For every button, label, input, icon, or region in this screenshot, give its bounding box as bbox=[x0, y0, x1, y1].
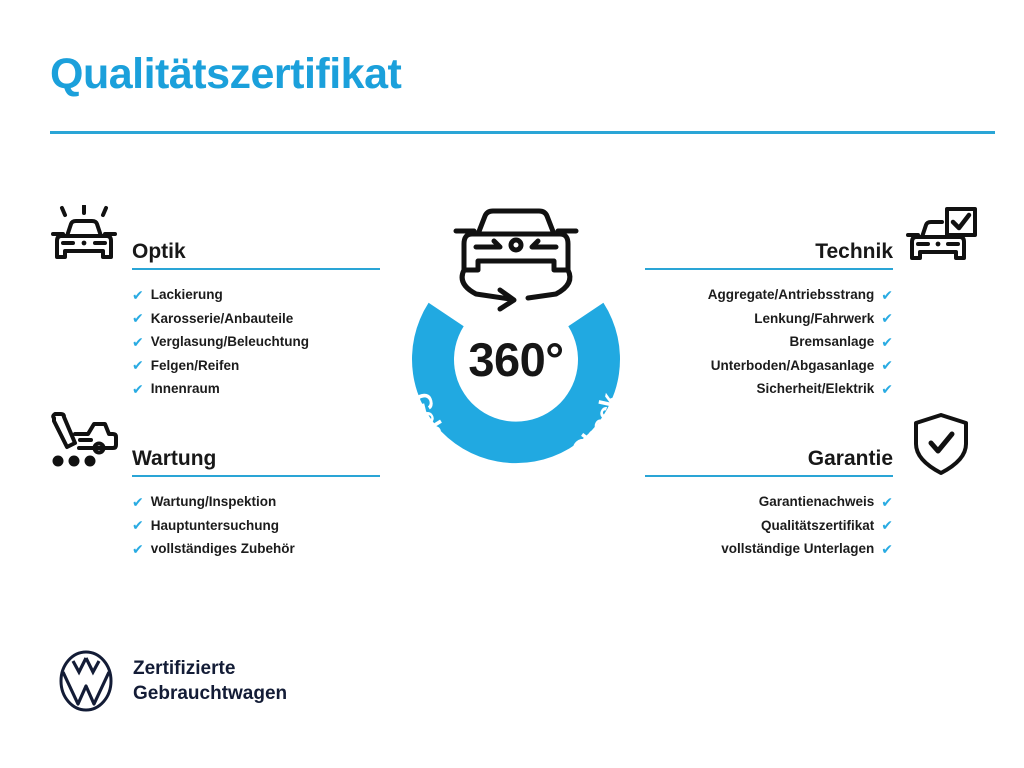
block-technik-header: Technik bbox=[645, 239, 893, 270]
list-item-label: vollständige Unterlagen bbox=[721, 537, 874, 561]
block-wartung-header: Wartung bbox=[132, 446, 380, 477]
car-rotate-icon bbox=[456, 211, 576, 309]
list-item: ✔vollständiges Zubehör bbox=[132, 537, 380, 561]
list-item-label: Lenkung/Fahrwerk bbox=[754, 307, 874, 331]
check-icon: ✔ bbox=[132, 518, 144, 532]
block-optik-list: ✔Lackierung ✔Karosserie/Anbauteile ✔Verg… bbox=[132, 283, 380, 401]
check-icon: ✔ bbox=[132, 542, 144, 556]
block-title: Wartung bbox=[132, 446, 380, 471]
vw-logo-icon bbox=[55, 650, 117, 712]
check-icon: ✔ bbox=[132, 288, 144, 302]
check-icon: ✔ bbox=[881, 518, 893, 532]
badge-center-label: 360° bbox=[376, 332, 656, 387]
certificate-page: Qualitätszertifikat Optik ✔Lackierung bbox=[0, 0, 1024, 768]
list-item: Qualitätszertifikat✔ bbox=[645, 514, 893, 538]
shield-check-icon bbox=[902, 412, 980, 478]
block-title: Garantie bbox=[645, 446, 893, 471]
vw-footer-logo: Zertifizierte Gebrauchtwagen bbox=[55, 650, 287, 712]
list-item-label: Unterboden/Abgasanlage bbox=[711, 354, 875, 378]
check-icon: ✔ bbox=[132, 358, 144, 372]
list-item-label: Verglasung/Beleuchtung bbox=[151, 330, 309, 354]
list-item-label: Sicherheit/Elektrik bbox=[756, 377, 874, 401]
title-divider bbox=[50, 131, 995, 134]
list-item-label: Bremsanlage bbox=[789, 330, 874, 354]
list-item: ✔Innenraum bbox=[132, 377, 380, 401]
block-garantie-header: Garantie bbox=[645, 446, 893, 477]
list-item: ✔Felgen/Reifen bbox=[132, 354, 380, 378]
block-wartung: Wartung ✔Wartung/Inspektion ✔Hauptunters… bbox=[45, 412, 395, 592]
block-title: Technik bbox=[645, 239, 893, 264]
list-item-label: Aggregate/Antriebsstrang bbox=[708, 283, 875, 307]
check-icon: ✔ bbox=[881, 495, 893, 509]
check-icon: ✔ bbox=[132, 495, 144, 509]
list-item: ✔Lackierung bbox=[132, 283, 380, 307]
block-optik-header: Optik bbox=[132, 239, 380, 270]
list-item: Garantienachweis✔ bbox=[645, 490, 893, 514]
list-item-label: Qualitätszertifikat bbox=[761, 514, 874, 538]
list-item-label: Karosserie/Anbauteile bbox=[151, 307, 294, 331]
list-item: ✔Karosserie/Anbauteile bbox=[132, 307, 380, 331]
list-item: ✔Wartung/Inspektion bbox=[132, 490, 380, 514]
list-item: Aggregate/Antriebsstrang✔ bbox=[645, 283, 893, 307]
list-item: Unterboden/Abgasanlage✔ bbox=[645, 354, 893, 378]
block-technik: Technik Aggregate/Antriebsstrang✔ Lenkun… bbox=[630, 205, 980, 385]
vw-logo-text: Zertifizierte Gebrauchtwagen bbox=[133, 656, 287, 706]
list-item-label: Innenraum bbox=[151, 377, 220, 401]
vw-logo-line-1: Zertifizierte bbox=[133, 656, 287, 681]
car-shine-icon bbox=[45, 205, 123, 271]
block-title: Optik bbox=[132, 239, 380, 264]
list-item-label: Felgen/Reifen bbox=[151, 354, 240, 378]
block-technik-list: Aggregate/Antriebsstrang✔ Lenkung/Fahrwe… bbox=[645, 283, 893, 401]
list-item: Sicherheit/Elektrik✔ bbox=[645, 377, 893, 401]
list-item: Bremsanlage✔ bbox=[645, 330, 893, 354]
pen-car-service-icon bbox=[45, 412, 123, 478]
block-garantie-list: Garantienachweis✔ Qualitätszertifikat✔ v… bbox=[645, 490, 893, 561]
block-optik: Optik ✔Lackierung ✔Karosserie/Anbauteile… bbox=[45, 205, 395, 385]
block-underline bbox=[132, 475, 380, 477]
check-icon: ✔ bbox=[132, 382, 144, 396]
list-item-label: vollständiges Zubehör bbox=[151, 537, 295, 561]
block-garantie: Garantie Garantienachweis✔ Qualitätszert… bbox=[630, 412, 980, 592]
check-icon: ✔ bbox=[881, 311, 893, 325]
block-underline bbox=[645, 475, 893, 477]
list-item: Lenkung/Fahrwerk✔ bbox=[645, 307, 893, 331]
block-wartung-list: ✔Wartung/Inspektion ✔Hauptuntersuchung ✔… bbox=[132, 490, 380, 561]
list-item-label: Wartung/Inspektion bbox=[151, 490, 277, 514]
gebrauchtwagen-check-badge: Gebrauchtwagen-Check 360° bbox=[376, 192, 656, 492]
check-icon: ✔ bbox=[132, 311, 144, 325]
list-item: vollständige Unterlagen✔ bbox=[645, 537, 893, 561]
list-item-label: Garantienachweis bbox=[759, 490, 875, 514]
check-icon: ✔ bbox=[881, 358, 893, 372]
block-underline bbox=[645, 268, 893, 270]
list-item-label: Lackierung bbox=[151, 283, 223, 307]
list-item: ✔Verglasung/Beleuchtung bbox=[132, 330, 380, 354]
car-checkbox-icon bbox=[902, 205, 980, 271]
check-icon: ✔ bbox=[881, 542, 893, 556]
block-underline bbox=[132, 268, 380, 270]
check-icon: ✔ bbox=[132, 335, 144, 349]
vw-logo-line-2: Gebrauchtwagen bbox=[133, 681, 287, 706]
page-title: Qualitätszertifikat bbox=[50, 50, 401, 99]
list-item: ✔Hauptuntersuchung bbox=[132, 514, 380, 538]
check-icon: ✔ bbox=[881, 288, 893, 302]
list-item-label: Hauptuntersuchung bbox=[151, 514, 279, 538]
check-icon: ✔ bbox=[881, 335, 893, 349]
check-icon: ✔ bbox=[881, 382, 893, 396]
